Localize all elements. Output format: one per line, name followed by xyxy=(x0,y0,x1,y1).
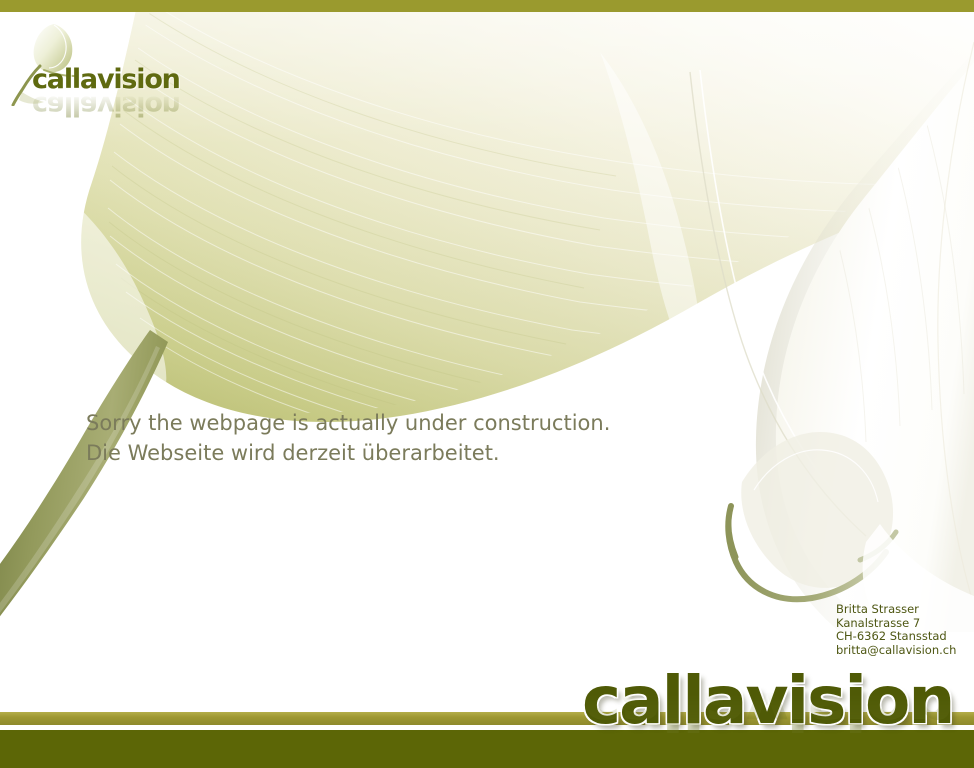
footer-logo[interactable]: callavision callavision xyxy=(574,668,974,768)
top-olive-rule xyxy=(0,0,974,12)
contact-block: Britta Strasser Kanalstrasse 7 CH-6362 S… xyxy=(836,603,956,657)
message-line-de: Die Webseite wird derzeit überarbeitet. xyxy=(86,438,610,468)
contact-email[interactable]: britta@callavision.ch xyxy=(836,644,956,658)
petal-lobe xyxy=(690,22,974,632)
contact-name: Britta Strasser xyxy=(836,603,956,617)
footer-logo-reflection: callavision xyxy=(582,672,953,738)
header-logo-text: callavision xyxy=(32,66,180,93)
header-logo[interactable]: callavision callavision xyxy=(10,16,180,121)
calla-stem xyxy=(0,330,168,624)
calla-tendril xyxy=(728,506,896,599)
message-line-en: Sorry the webpage is actually under cons… xyxy=(86,408,610,438)
petal-fold-highlight xyxy=(59,192,166,384)
header-logo-reflection: callavision xyxy=(32,92,180,119)
petal-sheet xyxy=(81,12,974,460)
construction-message: Sorry the webpage is actually under cons… xyxy=(86,408,610,468)
contact-city: CH-6362 Stansstad xyxy=(836,630,956,644)
page-root: callavision callavision Sorry the webpag… xyxy=(0,0,974,768)
contact-street: Kanalstrasse 7 xyxy=(836,617,956,631)
